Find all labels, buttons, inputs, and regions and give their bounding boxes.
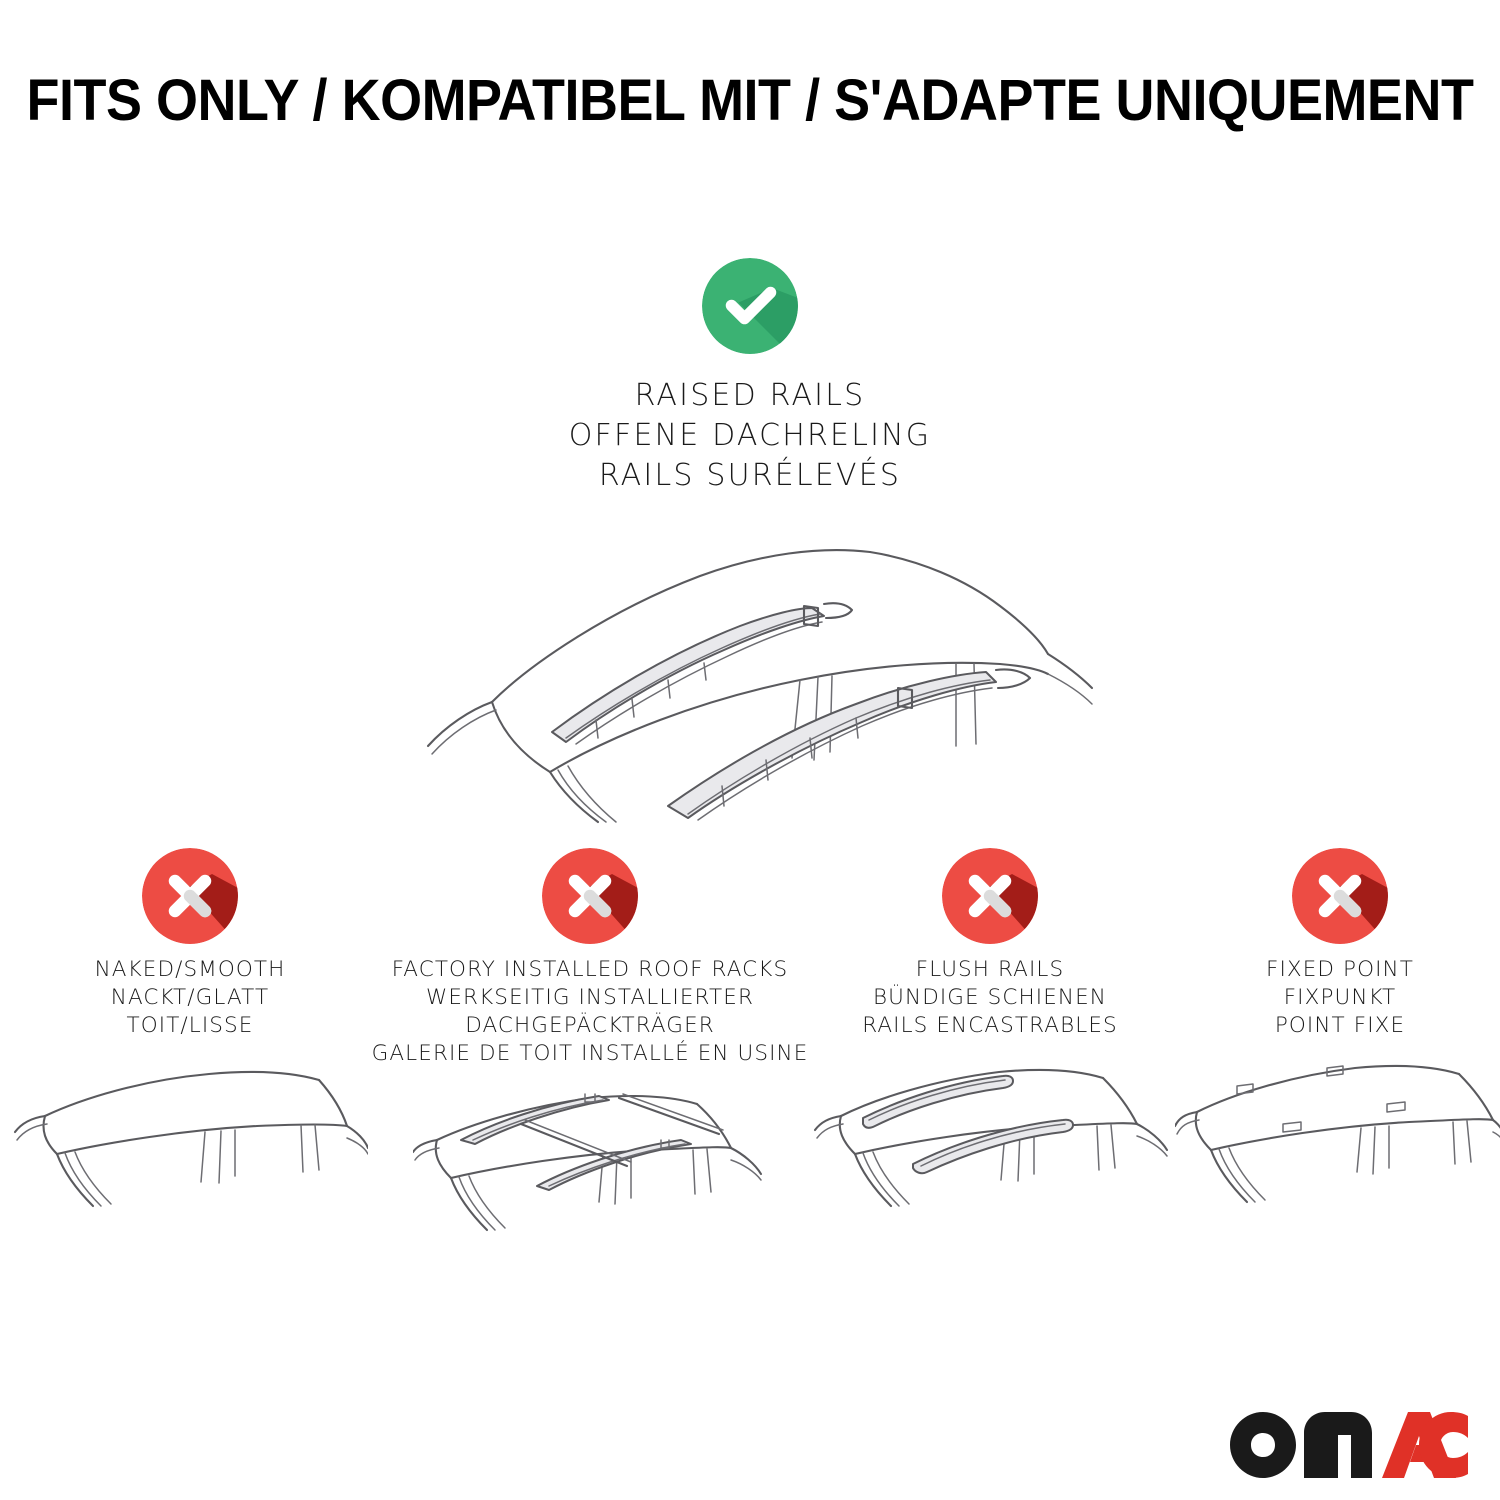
car-roof-fixed-point-illustration: [1175, 1054, 1500, 1269]
car-roof-raised-rails-illustration: [400, 514, 1100, 824]
header: FITS ONLY / KOMPATIBEL MIT / S'ADAPTE UN…: [0, 0, 1500, 200]
x-circle-icon: [942, 848, 1038, 944]
incompatible-caption: FACTORY INSTALLED ROOF RACKS WERKSEITIG …: [372, 956, 809, 1068]
caption-line-en: FIXED POINT: [1266, 956, 1414, 984]
approved-section: RAISED RAILS OFFENE DACHRELING RAILS SUR…: [0, 258, 1500, 824]
incompatible-item-naked-smooth: NAKED/SMOOTH NACKT/GLATT TOIT/LISSE: [0, 848, 380, 1269]
caption-line-de: NACKT/GLATT: [95, 984, 286, 1012]
incompatible-item-flush-rails: FLUSH RAILS BÜNDIGE SCHIENEN RAILS ENCAS…: [800, 848, 1180, 1269]
caption-line-fr: RAILS ENCASTRABLES: [862, 1012, 1118, 1040]
caption-line-de-1: WERKSEITIG INSTALLIERTER: [372, 984, 809, 1012]
incompatible-caption: NAKED/SMOOTH NACKT/GLATT TOIT/LISSE: [95, 956, 286, 1040]
caption-line-en: NAKED/SMOOTH: [95, 956, 286, 984]
omac-logo-mark: [1230, 1412, 1468, 1478]
car-roof-flush-rails-illustration: [813, 1054, 1168, 1269]
x-circle-icon: [1292, 848, 1388, 944]
approved-line-en: RAISED RAILS: [569, 376, 932, 416]
caption-line-de: BÜNDIGE SCHIENEN: [862, 984, 1118, 1012]
incompatible-caption: FIXED POINT FIXPUNKT POINT FIXE: [1266, 956, 1414, 1040]
caption-line-de: FIXPUNKT: [1266, 984, 1414, 1012]
caption-line-de-2: DACHGEPÄCKTRÄGER: [372, 1012, 809, 1040]
car-roof-naked-smooth-illustration: [13, 1054, 368, 1269]
caption-line-en: FLUSH RAILS: [862, 956, 1118, 984]
check-circle-icon: [702, 258, 798, 354]
caption-line-en: FACTORY INSTALLED ROOF RACKS: [372, 956, 809, 984]
approved-line-de: OFFENE DACHRELING: [569, 416, 932, 456]
incompatible-caption: FLUSH RAILS BÜNDIGE SCHIENEN RAILS ENCAS…: [862, 956, 1118, 1040]
incompatible-item-fixed-point: FIXED POINT FIXPUNKT POINT FIXE: [1180, 848, 1500, 1269]
approved-caption: RAISED RAILS OFFENE DACHRELING RAILS SUR…: [569, 376, 932, 496]
incompatible-item-factory-roof-racks: FACTORY INSTALLED ROOF RACKS WERKSEITIG …: [380, 848, 800, 1297]
omac-logo: [1230, 1412, 1468, 1478]
caption-line-fr: POINT FIXE: [1266, 1012, 1414, 1040]
car-roof-factory-roof-racks-illustration: [413, 1082, 768, 1297]
approved-line-fr: RAILS SURÉLEVÉS: [569, 456, 932, 496]
x-circle-icon: [542, 848, 638, 944]
caption-line-fr: TOIT/LISSE: [95, 1012, 286, 1040]
page-title: FITS ONLY / KOMPATIBEL MIT / S'ADAPTE UN…: [27, 67, 1474, 134]
caption-line-fr: GALERIE DE TOIT INSTALLÉ EN USINE: [372, 1040, 809, 1068]
x-circle-icon: [142, 848, 238, 944]
incompatible-section: NAKED/SMOOTH NACKT/GLATT TOIT/LISSE: [0, 848, 1500, 1297]
